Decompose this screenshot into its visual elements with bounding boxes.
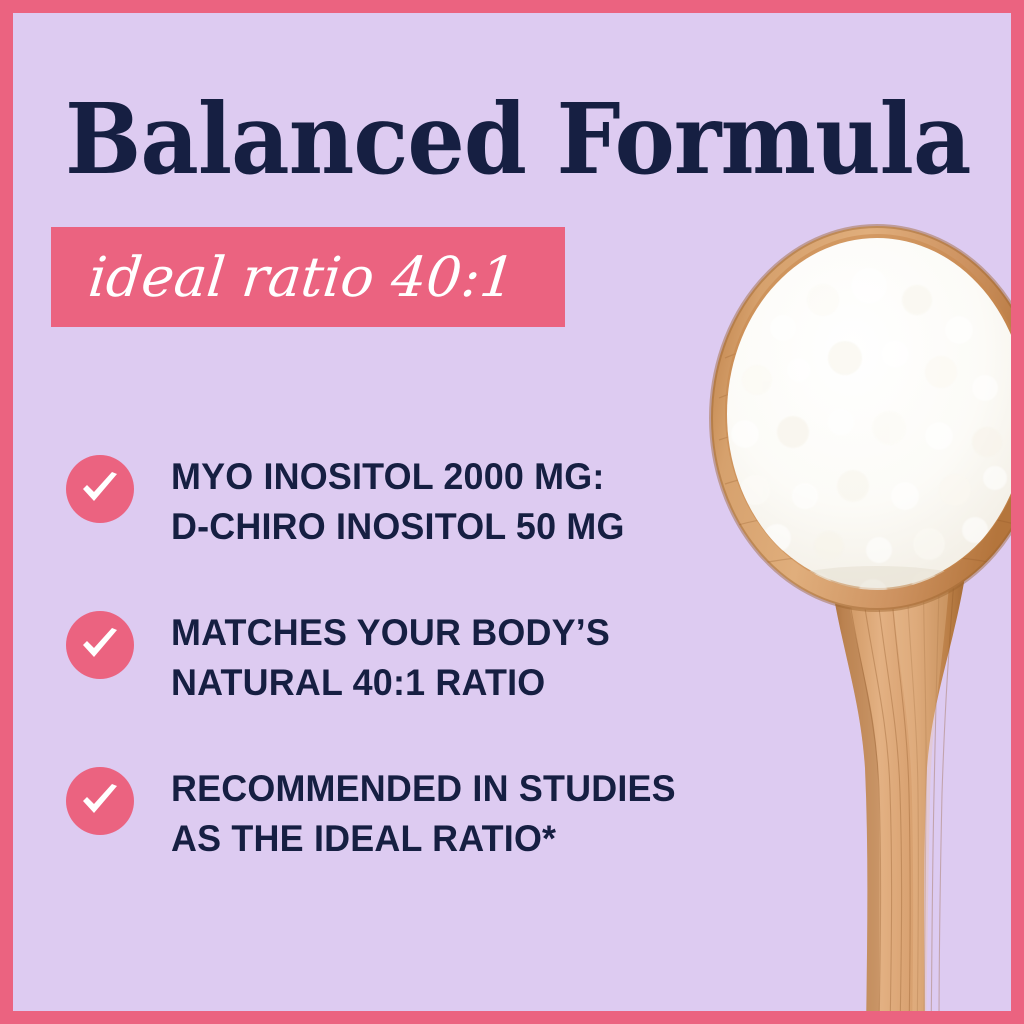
- product-infographic-poster: Balanced Formula ideal ratio 40:1 MYO IN…: [0, 0, 1024, 1024]
- check-icon-wrapper: [66, 611, 134, 679]
- list-item-line-1: MYO INOSITOL 2000 MG:: [171, 452, 768, 502]
- list-item-text: MATCHES YOUR BODY’S NATURAL 40:1 RATIO: [171, 606, 786, 707]
- page-title: Balanced Formula: [65, 91, 971, 188]
- check-icon: [66, 611, 134, 679]
- ratio-badge-label: ideal ratio 40:1: [48, 250, 518, 305]
- ratio-badge: ideal ratio 40:1: [51, 227, 565, 327]
- list-item-text: MYO INOSITOL 2000 MG: D-CHIRO INOSITOL 5…: [171, 450, 786, 551]
- check-icon: [66, 767, 134, 835]
- check-icon: [66, 455, 134, 523]
- benefits-list: MYO INOSITOL 2000 MG: D-CHIRO INOSITOL 5…: [66, 450, 786, 863]
- list-item-line-2: NATURAL 40:1 RATIO: [171, 658, 768, 708]
- list-item-line-1: RECOMMENDED IN STUDIES: [171, 764, 768, 814]
- list-item-line-1: MATCHES YOUR BODY’S: [171, 608, 768, 658]
- check-icon-wrapper: [66, 455, 134, 523]
- list-item-text: RECOMMENDED IN STUDIES AS THE IDEAL RATI…: [171, 762, 786, 863]
- poster-canvas: Balanced Formula ideal ratio 40:1 MYO IN…: [13, 13, 1011, 1011]
- list-item: RECOMMENDED IN STUDIES AS THE IDEAL RATI…: [66, 762, 786, 863]
- list-item: MATCHES YOUR BODY’S NATURAL 40:1 RATIO: [66, 606, 786, 707]
- check-icon-wrapper: [66, 767, 134, 835]
- list-item-line-2: AS THE IDEAL RATIO*: [171, 814, 768, 864]
- list-item: MYO INOSITOL 2000 MG: D-CHIRO INOSITOL 5…: [66, 450, 786, 551]
- list-item-line-2: D-CHIRO INOSITOL 50 MG: [171, 502, 768, 552]
